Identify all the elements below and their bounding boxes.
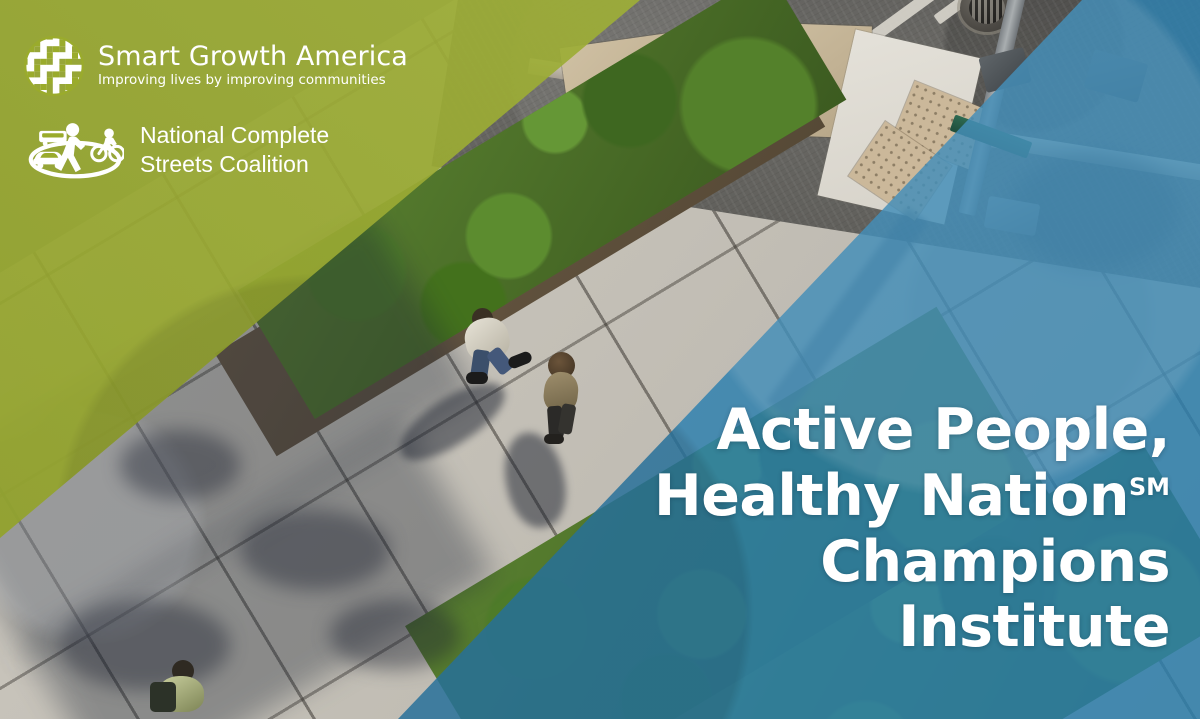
pedestrian-child xyxy=(536,348,594,444)
headline-line-1: Active People, xyxy=(654,398,1170,464)
pedestrian-shoe xyxy=(507,350,534,370)
pedestrian-shoe xyxy=(466,372,488,384)
ncsc-name-line-2: Streets Coalition xyxy=(140,150,329,179)
national-complete-streets-coalition-logo: National Complete Streets Coalition xyxy=(26,120,408,180)
service-mark: SM xyxy=(1129,473,1170,501)
pedestrian-adult xyxy=(462,300,532,390)
tree-shadow xyxy=(120,430,240,500)
pedestrian-bag xyxy=(150,682,176,712)
sga-tagline: Improving lives by improving communities xyxy=(98,71,408,89)
woven-circle-icon xyxy=(24,36,84,96)
headline-line-3: Champions xyxy=(654,530,1170,596)
pedestrian-glyph xyxy=(56,123,85,172)
headline-line-2-text: Healthy Nation xyxy=(654,463,1129,529)
promo-banner: Smart Growth America Improving lives by … xyxy=(0,0,1200,719)
tree-shadow xyxy=(330,600,460,670)
pedestrian-shoe xyxy=(544,434,564,444)
headline: Active People, Healthy NationSM Champion… xyxy=(654,398,1170,661)
complete-streets-loop-icon xyxy=(26,120,124,180)
headline-line-4: Institute xyxy=(654,595,1170,661)
ncsc-wordmark: National Complete Streets Coalition xyxy=(140,121,329,179)
tree-shadow xyxy=(240,510,390,590)
smart-growth-america-logo: Smart Growth America Improving lives by … xyxy=(24,36,408,96)
logo-lockup: Smart Growth America Improving lives by … xyxy=(24,36,408,180)
smart-growth-america-wordmark: Smart Growth America Improving lives by … xyxy=(98,43,408,90)
ncsc-name-line-1: National Complete xyxy=(140,121,329,150)
headline-line-2: Healthy NationSM xyxy=(654,464,1170,530)
pedestrian-third xyxy=(150,660,230,719)
sga-name: Smart Growth America xyxy=(98,43,408,72)
